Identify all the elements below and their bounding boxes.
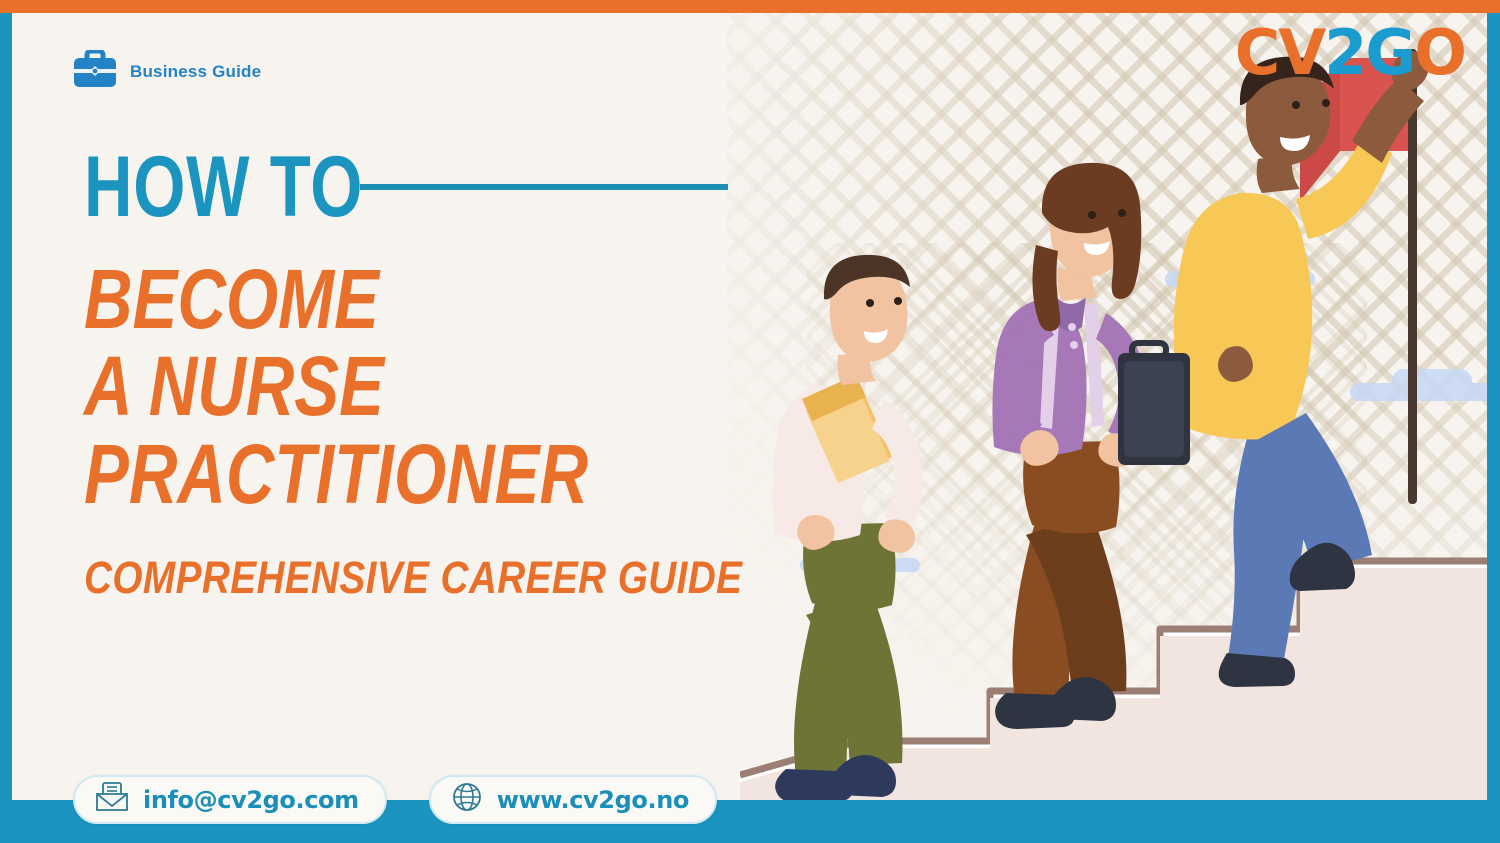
briefcase-icon (73, 50, 117, 93)
contact-website-text: www.cv2go.no (497, 786, 689, 814)
frame-border-right (1487, 13, 1500, 803)
frame-border-left (0, 13, 12, 803)
briefcase-held (1118, 343, 1190, 465)
frame-border-top (0, 0, 1500, 13)
logo-part-o: O (1414, 16, 1465, 89)
globe-icon (451, 781, 483, 818)
title-line-2: A NURSE (84, 344, 740, 430)
headline-block: HOW TO BECOME A NURSE PRACTITIONER COMPR… (84, 146, 904, 604)
logo-part-2g: 2G (1324, 16, 1414, 89)
cv2go-logo: CV2GO (1235, 22, 1465, 84)
badge-label: Business Guide (130, 62, 261, 82)
subtitle-text: COMPREHENSIVE CAREER GUIDE (84, 552, 789, 604)
accent-rule (360, 184, 728, 190)
poster-canvas: Business Guide CV2GO HOW TO BECOME A NUR… (0, 0, 1500, 843)
eyebrow-text: HOW TO (84, 146, 363, 229)
title-line-1: BECOME (84, 257, 740, 343)
logo-part-cv: CV (1235, 16, 1324, 89)
title-lines: BECOME A NURSE PRACTITIONER (84, 257, 904, 518)
title-line-3: PRACTITIONER (84, 432, 740, 518)
contact-email-text: info@cv2go.com (143, 786, 359, 814)
contact-pill-email[interactable]: info@cv2go.com (73, 775, 387, 824)
contact-bar: info@cv2go.com www.cv2go.no (73, 775, 717, 824)
envelope-icon (95, 782, 129, 817)
business-guide-badge: Business Guide (73, 50, 261, 93)
eyebrow-row: HOW TO (84, 146, 904, 229)
contact-pill-website[interactable]: www.cv2go.no (429, 775, 717, 824)
